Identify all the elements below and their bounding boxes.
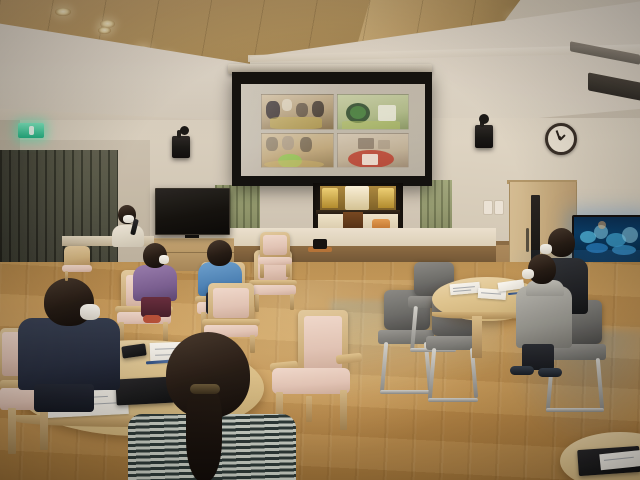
person-gray-hoodie	[516, 254, 574, 374]
speaker-left	[172, 136, 190, 158]
person-presenter	[110, 205, 148, 245]
person-navy	[18, 278, 126, 410]
trousers	[34, 384, 94, 412]
person-purple	[131, 243, 179, 313]
slide-photo-top-left	[261, 94, 334, 130]
altar-center-figure	[345, 186, 369, 210]
downlight-icon	[55, 8, 71, 16]
chair-wooden[interactable]	[255, 232, 295, 278]
door-handle[interactable]	[526, 228, 529, 252]
slide-photo-bottom-right	[337, 133, 410, 169]
downlight-icon	[98, 27, 111, 34]
light-switch[interactable]	[494, 200, 504, 215]
shoe	[538, 368, 562, 377]
left-curtain-shading	[0, 150, 118, 275]
chair-wooden[interactable]	[60, 246, 94, 280]
slide-photo-bottom-left	[261, 133, 334, 169]
hair-ponytail	[186, 388, 222, 480]
light-switch[interactable]	[483, 200, 493, 215]
flat-screen-tv[interactable]	[155, 188, 230, 235]
running-person-glyph	[29, 126, 34, 135]
shoe	[143, 315, 161, 323]
emergency-exit-sign-icon	[18, 123, 44, 138]
person-striped	[128, 332, 298, 480]
slide-photo-grid	[261, 94, 409, 168]
slide-photo-top-right	[337, 94, 410, 130]
shoe	[510, 366, 534, 375]
stage-cushion	[313, 239, 327, 249]
projection-screen	[241, 84, 425, 176]
wall-clock-icon	[545, 123, 577, 155]
hair-tie	[190, 384, 220, 394]
clock-center-pin	[558, 136, 561, 139]
room-photograph	[0, 0, 640, 480]
table-leg	[472, 316, 482, 358]
speaker-right	[475, 125, 493, 148]
altar-gold-ornament	[378, 188, 394, 208]
altar-gold-ornament	[322, 188, 338, 208]
trousers	[141, 297, 171, 317]
